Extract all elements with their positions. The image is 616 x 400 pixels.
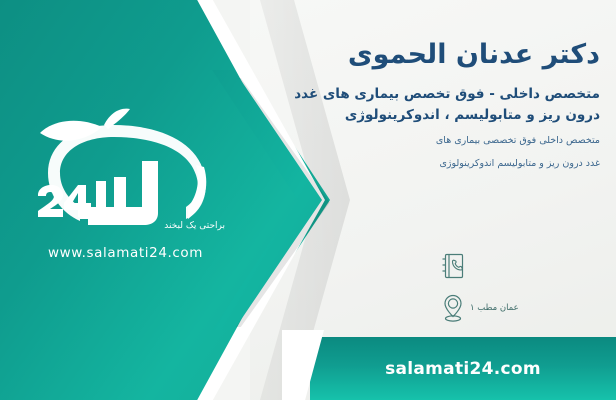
footer-website-url[interactable]: salamati24.com [385,359,541,379]
specialty-sub-line-1: متخصص داخلی فوق تخصصی بیماری های [264,132,600,150]
contact-row-location[interactable]: عمان مطب ۱ [436,290,596,326]
salamati24-logo[interactable]: براحتی یک لبخند www.salamati24.com [18,95,233,280]
location-pin-icon[interactable] [436,291,470,325]
footer-bar: salamati24.com [310,337,616,400]
location-label: عمان مطب ۱ [470,303,519,313]
contact-block: عمان مطب ۱ [436,248,596,332]
contact-row-phone[interactable] [436,248,596,284]
specialty-line-2: درون ریز و متابولیسم ، اندوکرینولوژی [264,105,600,126]
phone-book-icon[interactable] [436,249,470,283]
logo-tagline: براحتی یک لبخند [164,221,225,231]
specialty-sub-line-2: غدد درون ریز و متابولیسم اندوکرینولوژی [264,155,600,173]
logo-website-url[interactable]: www.salamati24.com [18,245,233,261]
business-card: براحتی یک لبخند www.salamati24.com دکتر … [0,0,616,400]
doctor-name: دکتر عدنان الحموی [264,38,600,72]
specialty-line-1: متخصص داخلی - فوق تخصص بیماری های غدد [264,84,600,105]
doctor-info-block: دکتر عدنان الحموی متخصص داخلی - فوق تخصص… [264,38,600,173]
